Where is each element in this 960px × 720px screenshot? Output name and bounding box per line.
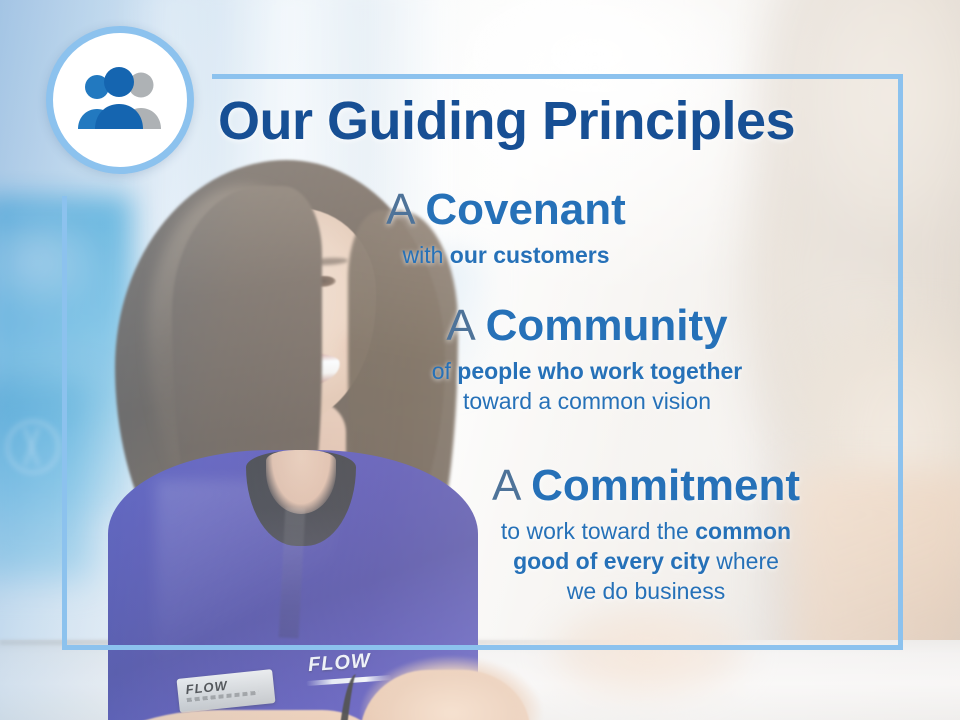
- principle-article: A: [492, 461, 519, 510]
- subtext-plain: with: [402, 242, 449, 268]
- subtext-emphasis: our customers: [450, 242, 610, 268]
- subtext-plain: to work toward the: [501, 518, 695, 544]
- principle-keyword: Covenant: [425, 185, 625, 234]
- principle-subtext: to work toward the commongood of every c…: [406, 516, 886, 607]
- principle-keyword: Commitment: [531, 461, 800, 510]
- blurred-vw-logo-icon: [6, 420, 60, 474]
- frame-border-top: [212, 74, 903, 79]
- subtext-plain: where: [710, 548, 779, 574]
- subtext-plain: toward a common vision: [463, 388, 711, 414]
- principle-heading: A Covenant: [306, 186, 706, 234]
- principle-subtext-line: of people who work together: [352, 356, 822, 386]
- principle-subtext: of people who work togethertoward a comm…: [352, 356, 822, 417]
- subtext-plain: of: [432, 358, 458, 384]
- principle-subtext-line: good of every city where: [406, 546, 886, 576]
- subtext-emphasis: good of every city: [513, 548, 710, 574]
- principle-subtext-line: we do business: [406, 576, 886, 606]
- guiding-principles-graphic: FLOW FLOW: [0, 0, 960, 720]
- principle-covenant: A Covenant with our customers: [306, 186, 706, 270]
- frame-border-right: [898, 74, 903, 650]
- principle-subtext: with our customers: [306, 240, 706, 270]
- principle-article: A: [446, 301, 473, 350]
- principle-heading: A Commitment: [406, 462, 886, 510]
- principle-subtext-line: to work toward the common: [406, 516, 886, 546]
- subtext-emphasis: people who work together: [457, 358, 742, 384]
- people-group-badge: [46, 26, 194, 174]
- frame-border-bottom: [62, 645, 903, 650]
- subtext-plain: we do business: [567, 578, 726, 604]
- page-title: Our Guiding Principles: [218, 93, 878, 150]
- principle-heading: A Community: [352, 302, 822, 350]
- people-group-icon: [73, 67, 167, 133]
- subtext-emphasis: common: [695, 518, 791, 544]
- shirt-flow-logo: FLOW: [307, 650, 371, 677]
- principle-commitment: A Commitment to work toward the commongo…: [406, 462, 886, 607]
- frame-border-left: [62, 196, 67, 650]
- principle-subtext-line: toward a common vision: [352, 386, 822, 416]
- principle-subtext-line: with our customers: [306, 240, 706, 270]
- principle-keyword: Community: [486, 301, 728, 350]
- principle-article: A: [386, 185, 413, 234]
- principle-community: A Community of people who work togethert…: [352, 302, 822, 416]
